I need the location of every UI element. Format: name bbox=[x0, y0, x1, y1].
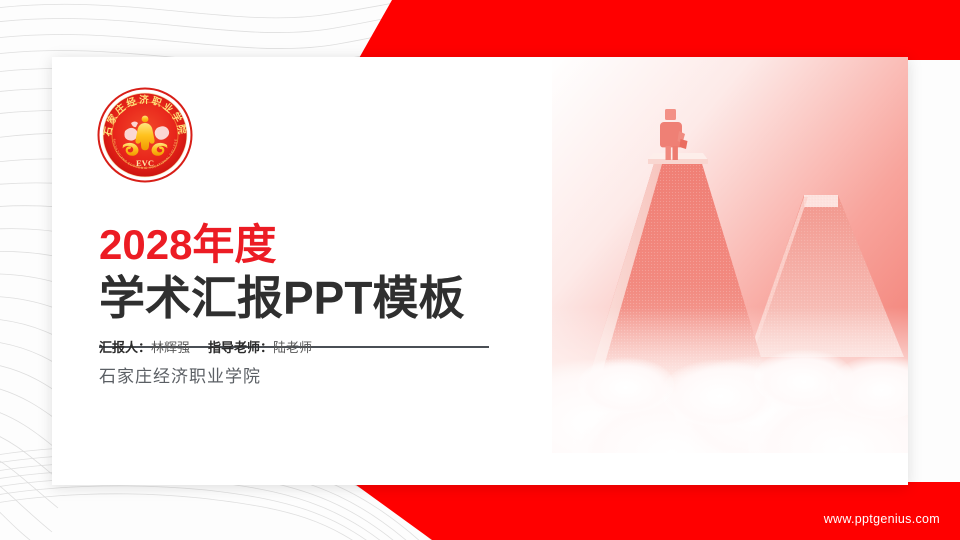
organization-name: 石家庄经济职业学院 bbox=[99, 362, 509, 387]
bottom-red-banner bbox=[0, 482, 960, 540]
footer-website-url[interactable]: www.pptgenius.com bbox=[824, 512, 940, 526]
mountain-peak-illustration bbox=[552, 57, 908, 485]
presentation-slide: EVC 石家庄经济职业学院 SHIJIAZHUANG ECONOMIC VOCA… bbox=[0, 0, 960, 540]
title-year: 2028年度 bbox=[99, 222, 509, 267]
top-red-banner bbox=[0, 0, 960, 60]
hero-image-panel bbox=[552, 57, 908, 485]
presenter-info: 汇报人：林辉强指导老师：陆老师 bbox=[99, 337, 312, 356]
reporter-name: 林辉强 bbox=[151, 340, 190, 355]
reporter-label: 汇报人： bbox=[99, 340, 151, 355]
advisor-name: 陆老师 bbox=[273, 340, 312, 355]
card-left-panel: EVC 石家庄经济职业学院 SHIJIAZHUANG ECONOMIC VOCA… bbox=[52, 57, 552, 485]
advisor-label: 指导老师： bbox=[208, 340, 273, 355]
headline-block: 2028年度 学术汇报PPT模板 石家庄经济职业学院 bbox=[99, 222, 509, 387]
title-card: EVC 石家庄经济职业学院 SHIJIAZHUANG ECONOMIC VOCA… bbox=[52, 57, 908, 485]
college-logo: EVC 石家庄经济职业学院 SHIJIAZHUANG ECONOMIC VOCA… bbox=[95, 85, 195, 185]
cloud-layer bbox=[552, 307, 908, 485]
title-main: 学术汇报PPT模板 bbox=[99, 273, 509, 324]
